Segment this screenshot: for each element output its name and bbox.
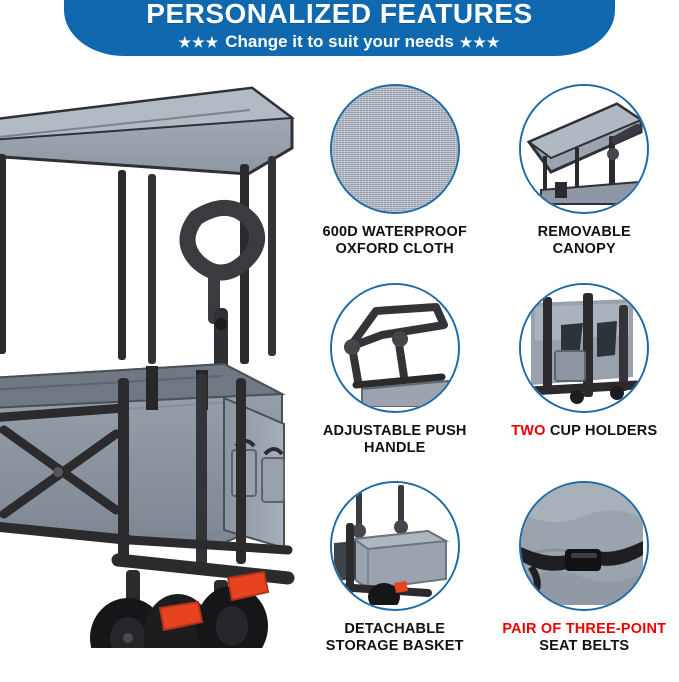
feature-removable-canopy[interactable]: REMOVABLE CANOPY (490, 78, 679, 277)
stars-right-icon: ★★★ (460, 35, 501, 49)
page-title: PERSONALIZED FEATURES (146, 0, 532, 28)
feature-caption: PAIR OF THREE-POINT SEAT BELTS (502, 621, 666, 655)
seat-belts-icon (519, 481, 649, 611)
caption-highlight: TWO (511, 423, 545, 439)
caption-highlight: PAIR OF THREE-POINT (502, 621, 666, 638)
stars-left-icon: ★★★ (179, 35, 220, 49)
feature-caption: DETACHABLE STORAGE BASKET (326, 621, 464, 655)
cup-holders-icon (519, 283, 649, 413)
feature-caption: 600D WATERPROOF OXFORD CLOTH (322, 224, 467, 258)
caption-line-1: REMOVABLE (538, 224, 631, 241)
caption-line-2: OXFORD CLOTH (322, 241, 467, 258)
push-handle-icon (330, 283, 460, 413)
canopy-icon (519, 84, 649, 214)
product-photo (0, 78, 300, 648)
fabric-swatch-icon (330, 84, 460, 214)
caption-line-1: 600D WATERPROOF (322, 224, 467, 241)
feature-adjustable-push-handle[interactable]: ADJUSTABLE PUSH HANDLE (300, 277, 490, 476)
feature-two-cup-holders[interactable]: TWO CUP HOLDERS (490, 277, 679, 476)
caption-line-1: TWO CUP HOLDERS (511, 423, 657, 440)
feature-caption: REMOVABLE CANOPY (538, 224, 631, 258)
feature-detachable-storage-basket[interactable]: DETACHABLE STORAGE BASKET (300, 475, 490, 674)
feature-grid: 600D WATERPROOF OXFORD CLOTH REMOVABLE C… (300, 78, 679, 674)
storage-basket-icon (330, 481, 460, 611)
wagon-illustration (0, 78, 300, 648)
caption-line-1: ADJUSTABLE PUSH (323, 423, 467, 440)
feature-caption: TWO CUP HOLDERS (511, 423, 657, 440)
feature-three-point-seat-belts[interactable]: PAIR OF THREE-POINT SEAT BELTS (490, 475, 679, 674)
caption-rest: CUP HOLDERS (546, 423, 658, 439)
caption-line-1: DETACHABLE (326, 621, 464, 638)
banner-subtitle-row: ★★★ Change it to suit your needs ★★★ (179, 33, 501, 50)
caption-line-2: SEAT BELTS (502, 638, 666, 655)
header-banner: PERSONALIZED FEATURES ★★★ Change it to s… (64, 0, 615, 56)
caption-line-2: CANOPY (538, 241, 631, 258)
feature-caption: ADJUSTABLE PUSH HANDLE (323, 423, 467, 457)
feature-waterproof-oxford-cloth[interactable]: 600D WATERPROOF OXFORD CLOTH (300, 78, 490, 277)
caption-line-2: HANDLE (323, 440, 467, 457)
banner-subtitle-text: Change it to suit your needs (225, 33, 454, 50)
caption-line-2: STORAGE BASKET (326, 638, 464, 655)
